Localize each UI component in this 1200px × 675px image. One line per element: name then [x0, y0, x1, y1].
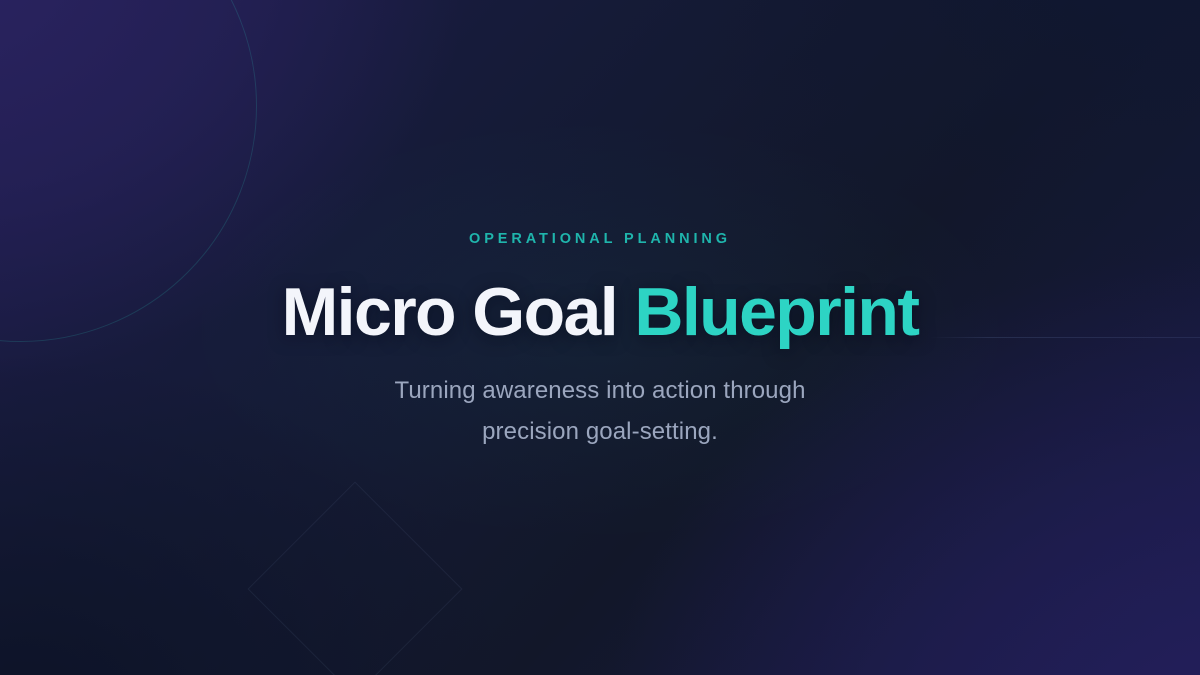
slide-content: Operational Planning Micro Goal Blueprin…	[0, 232, 1200, 452]
diamond-outline-icon	[248, 482, 463, 675]
page-title-accent: Blueprint	[634, 274, 918, 350]
eyebrow-label: Operational Planning	[0, 232, 1200, 247]
page-title: Micro Goal Blueprint	[0, 277, 1200, 348]
subtitle-text: Turning awareness into action through pr…	[365, 370, 835, 452]
page-title-primary: Micro Goal	[282, 274, 617, 350]
title-slide: Operational Planning Micro Goal Blueprin…	[0, 0, 1200, 675]
